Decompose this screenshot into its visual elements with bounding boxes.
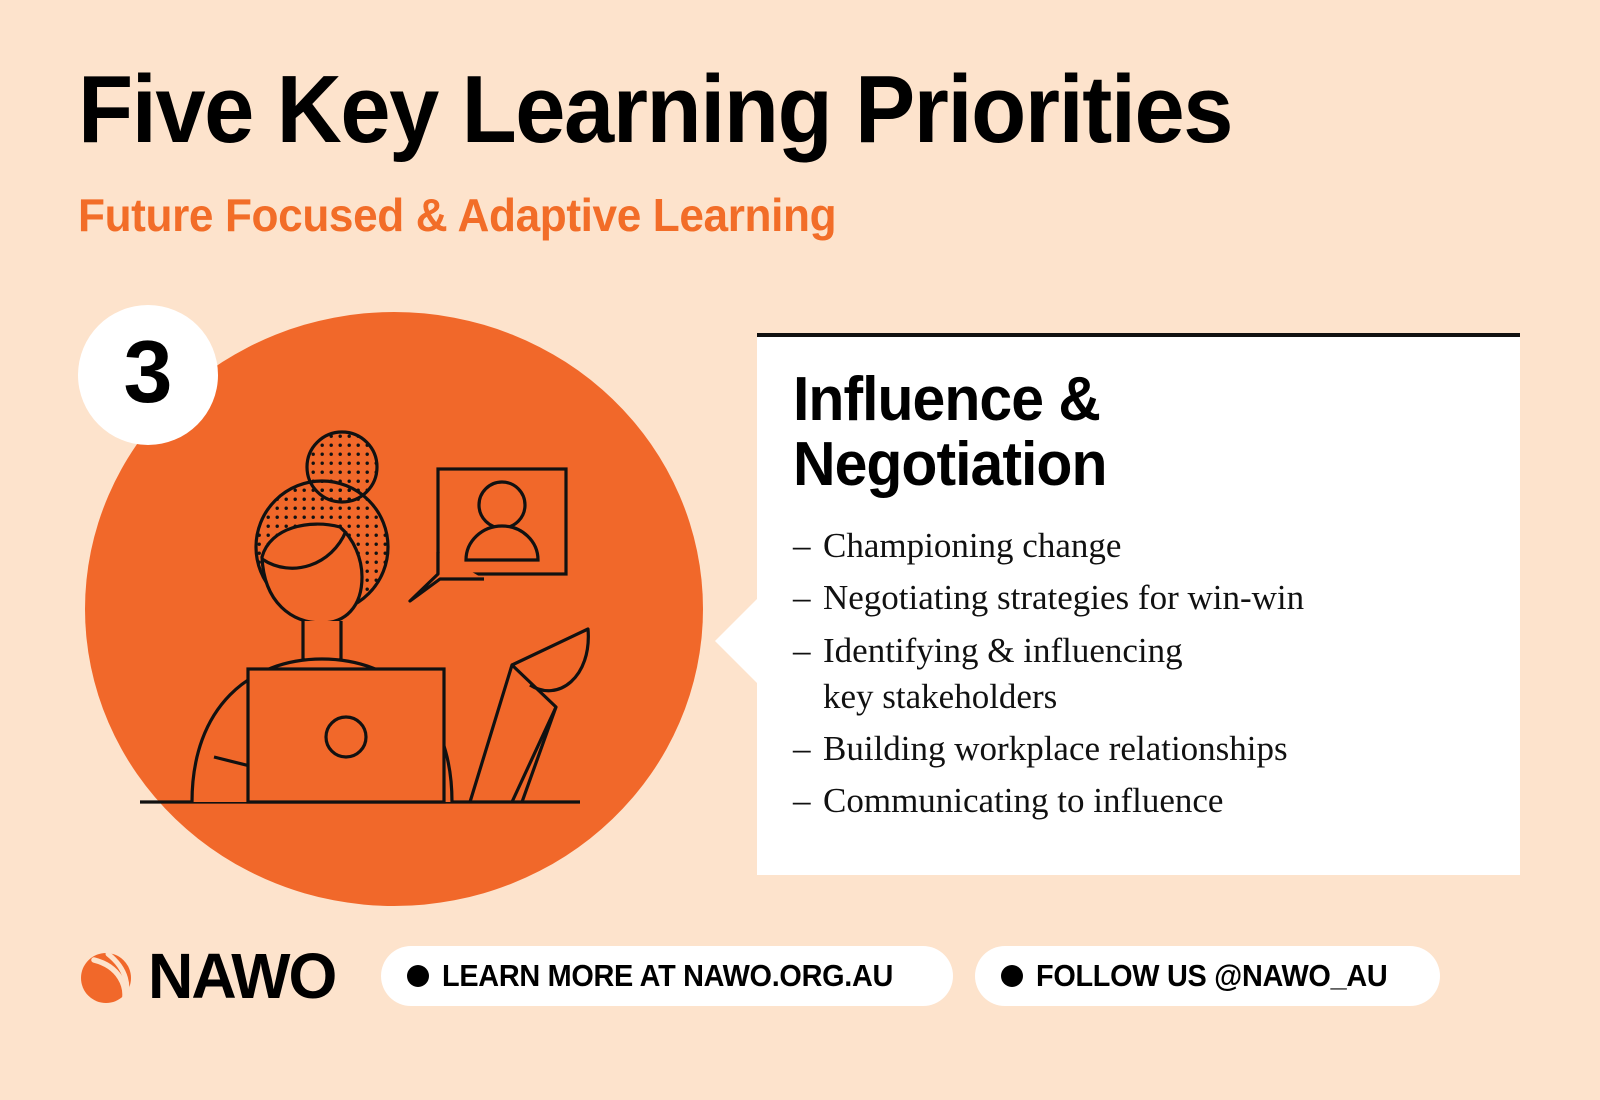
priority-number: 3 bbox=[124, 328, 173, 416]
list-item: – Championing change bbox=[793, 523, 1476, 569]
nawo-wordmark: NAWO bbox=[148, 944, 335, 1008]
bullet-text: Championing change bbox=[823, 523, 1476, 569]
person-at-laptop-illustration bbox=[140, 407, 680, 857]
page-title: Five Key Learning Priorities bbox=[78, 62, 1450, 158]
bullet-text: Building workplace relationships bbox=[823, 726, 1476, 772]
content-card: Influence & Negotiation – Championing ch… bbox=[757, 333, 1520, 875]
header: Five Key Learning Priorities Future Focu… bbox=[78, 62, 1538, 238]
bullet-dot-icon bbox=[407, 965, 429, 987]
follow-us-pill[interactable]: FOLLOW US @NAWO_AU bbox=[975, 946, 1440, 1006]
bullet-dash: – bbox=[793, 575, 823, 621]
bullet-text: Negotiating strategies for win-win bbox=[823, 575, 1476, 621]
poster-canvas: Five Key Learning Priorities Future Focu… bbox=[0, 0, 1600, 1100]
bullet-dash: – bbox=[793, 726, 823, 772]
card-pointer-notch bbox=[715, 599, 757, 683]
nawo-seed-icon bbox=[78, 946, 138, 1006]
follow-us-label: FOLLOW US @NAWO_AU bbox=[1036, 958, 1387, 994]
list-item: – Building workplace relationships bbox=[793, 726, 1476, 772]
list-item: – Negotiating strategies for win-win bbox=[793, 575, 1476, 621]
card-heading: Influence & Negotiation bbox=[793, 367, 1442, 497]
card-heading-line-1: Influence & bbox=[793, 367, 1442, 432]
priority-number-badge: 3 bbox=[78, 305, 218, 445]
bullet-text: Communicating to influence bbox=[823, 778, 1476, 824]
card-heading-line-2: Negotiation bbox=[793, 432, 1442, 497]
list-item: – Identifying & influencing key stakehol… bbox=[793, 628, 1476, 720]
footer: NAWO LEARN MORE AT NAWO.ORG.AU FOLLOW US… bbox=[78, 938, 1462, 1014]
nawo-logo[interactable]: NAWO bbox=[78, 944, 339, 1008]
learn-more-label: LEARN MORE AT NAWO.ORG.AU bbox=[442, 958, 893, 994]
list-item: – Communicating to influence bbox=[793, 778, 1476, 824]
bullet-dash: – bbox=[793, 628, 823, 674]
bullet-dot-icon bbox=[1001, 965, 1023, 987]
learn-more-pill[interactable]: LEARN MORE AT NAWO.ORG.AU bbox=[381, 946, 953, 1006]
bullet-text: Identifying & influencing key stakeholde… bbox=[823, 628, 1476, 720]
page-subtitle: Future Focused & Adaptive Learning bbox=[78, 158, 1480, 238]
bullet-dash: – bbox=[793, 778, 823, 824]
bullet-dash: – bbox=[793, 523, 823, 569]
priority-bullet-list: – Championing change – Negotiating strat… bbox=[793, 523, 1476, 824]
